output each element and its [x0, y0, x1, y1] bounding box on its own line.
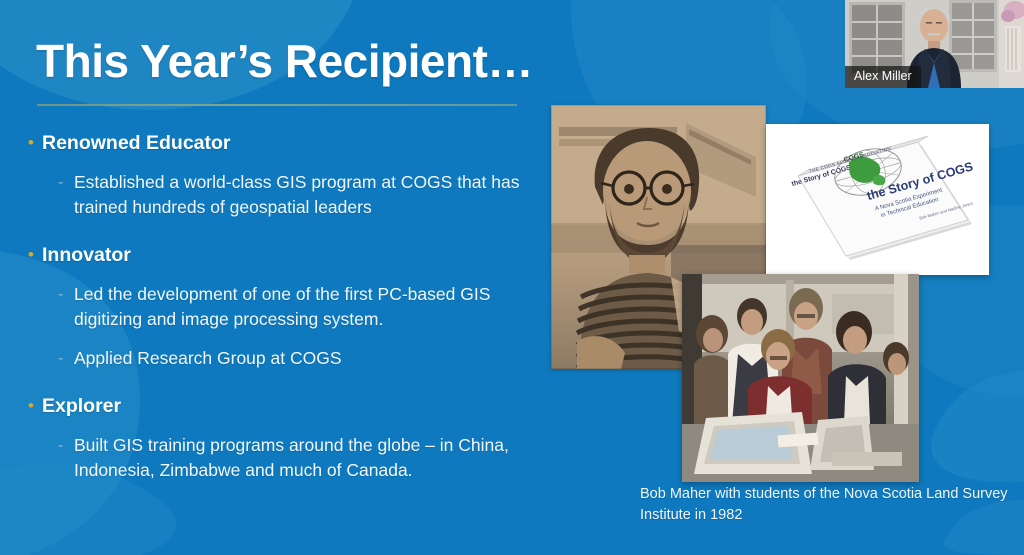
title-divider-rule [37, 104, 517, 106]
participant-name-label: Alex Miller [845, 66, 921, 88]
bullet-group-explorer: • Explorer - Built GIS training programs… [28, 393, 538, 483]
bullet-item-sub: - Established a world-class GIS program … [58, 170, 538, 220]
bullet-marker-icon: • [28, 130, 42, 156]
bullet-item-sub: - Built GIS training programs around the… [58, 433, 538, 483]
bullet-label: Renowned Educator [42, 130, 231, 156]
dash-marker-icon: - [58, 346, 74, 371]
students-at-computer-photo [682, 274, 919, 482]
dash-marker-icon: - [58, 282, 74, 307]
book-cover-photo: the Story of COGS COGS THE [766, 124, 989, 275]
bullet-item-sub: - Led the development of one of the firs… [58, 282, 538, 332]
bullet-marker-icon: • [28, 242, 42, 268]
bullet-item-primary: • Explorer [28, 393, 538, 419]
bullet-sub-text: Established a world-class GIS program at… [74, 170, 538, 220]
bullet-sub-text: Built GIS training programs around the g… [74, 433, 538, 483]
bullet-sub-text: Applied Research Group at COGS [74, 346, 342, 371]
bullet-list: • Renowned Educator - Established a worl… [28, 130, 538, 483]
bullet-label: Explorer [42, 393, 121, 419]
bullet-item-sub: - Applied Research Group at COGS [58, 346, 538, 371]
group-photo-art [682, 274, 919, 482]
book-cover-art: the Story of COGS COGS THE [766, 124, 989, 275]
bullet-item-primary: • Renowned Educator [28, 130, 538, 156]
bullet-label: Innovator [42, 242, 131, 268]
video-participant-tile[interactable]: Alex Miller [845, 0, 1024, 88]
dash-marker-icon: - [58, 433, 74, 458]
dash-marker-icon: - [58, 170, 74, 195]
presentation-slide: This Year’s Recipient… • Renowned Educat… [0, 0, 1024, 555]
bullet-sub-text: Led the development of one of the first … [74, 282, 538, 332]
bullet-group-innovator: • Innovator - Led the development of one… [28, 242, 538, 371]
slide-title: This Year’s Recipient… [36, 37, 533, 85]
bullet-item-primary: • Innovator [28, 242, 538, 268]
photo-caption: Bob Maher with students of the Nova Scot… [640, 484, 1020, 526]
bullet-group-educator: • Renowned Educator - Established a worl… [28, 130, 538, 220]
bullet-marker-icon: • [28, 393, 42, 419]
